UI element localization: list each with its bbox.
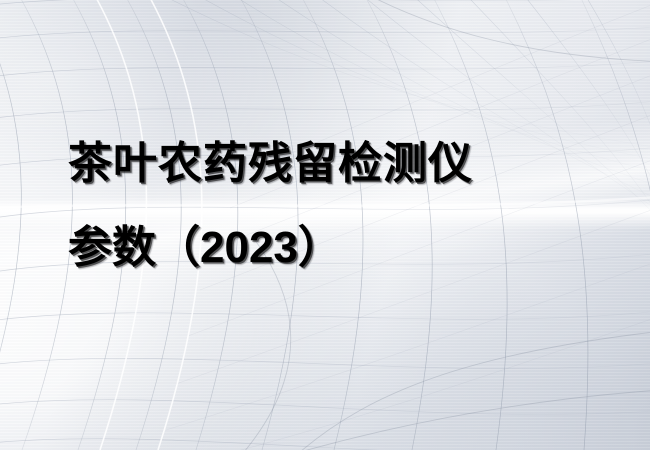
page-title-line-2: 参数（2023） — [68, 206, 473, 290]
product-title-banner: 茶叶农药残留检测仪 参数（2023） — [0, 0, 650, 450]
page-title: 茶叶农药残留检测仪 参数（2023） — [68, 122, 473, 290]
page-title-line-1: 茶叶农药残留检测仪 — [68, 122, 473, 206]
